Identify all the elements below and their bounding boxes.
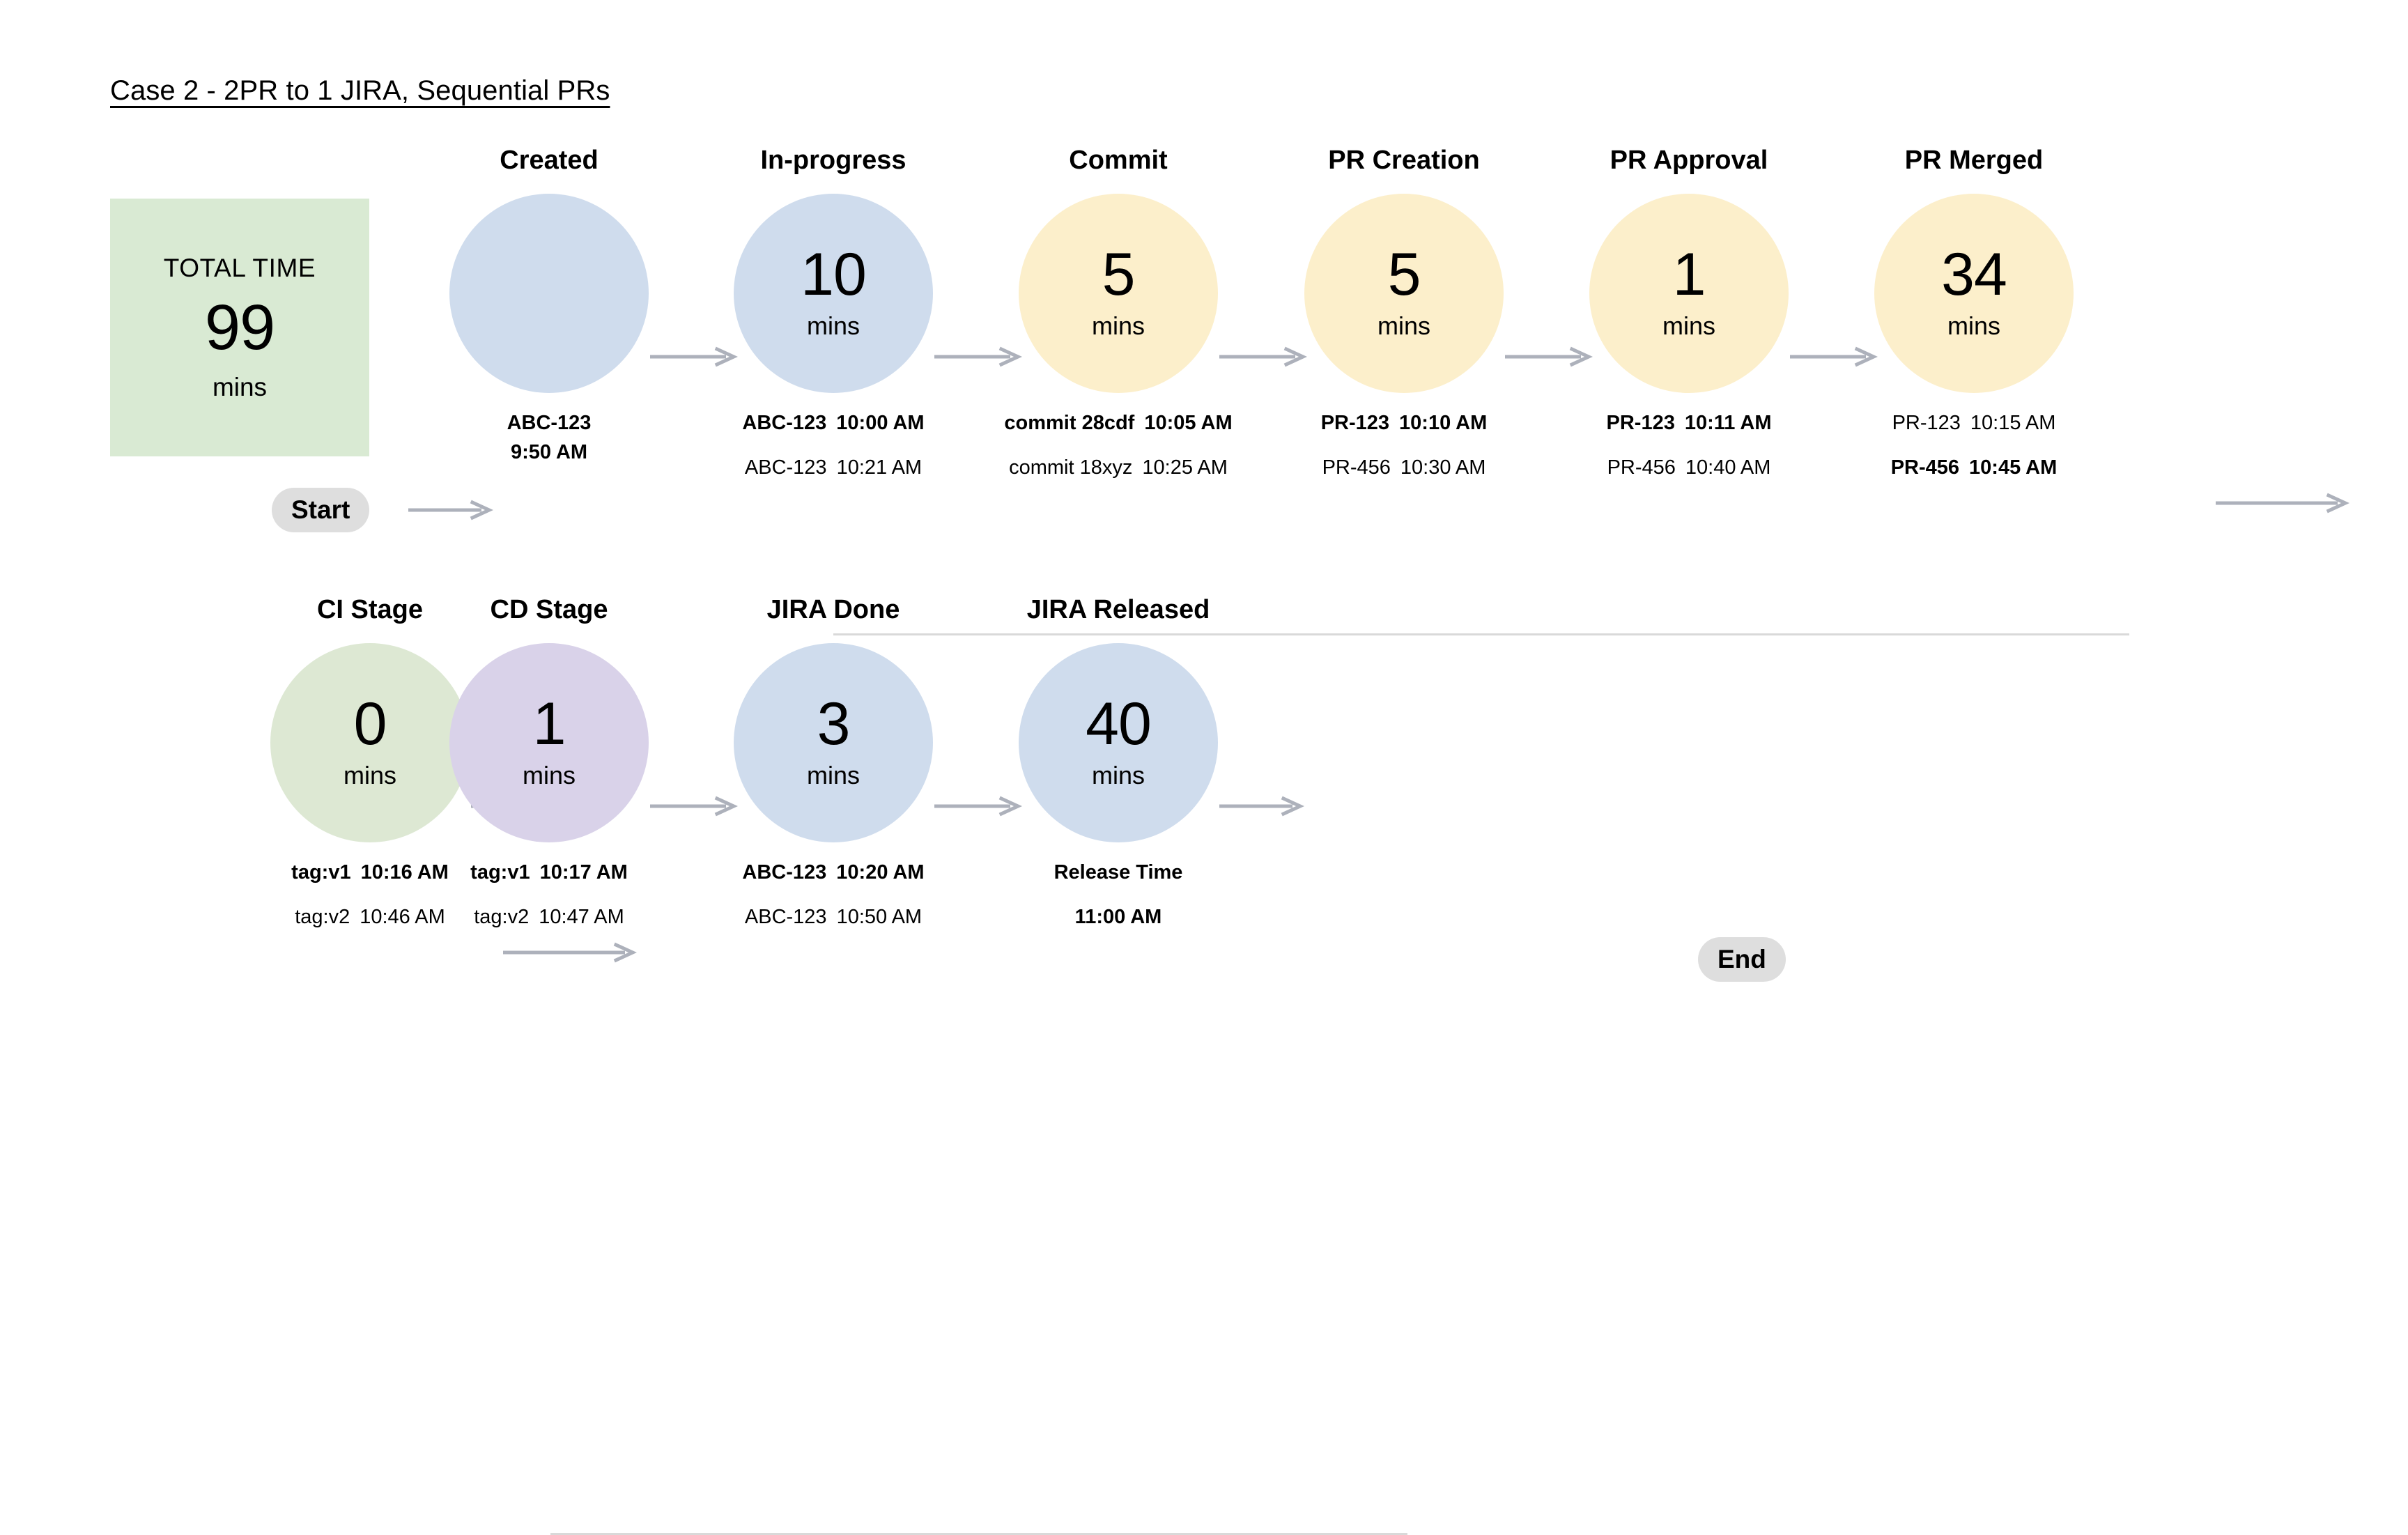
- arrow-node-to-end: [1219, 798, 1302, 815]
- detail-time: 10:25 AM: [1142, 453, 1228, 482]
- detail-row-gap: [734, 887, 933, 902]
- node-detail-line: 11:00 AM: [1019, 902, 1218, 932]
- stage-node-title: JIRA Done: [734, 596, 933, 628]
- stage-node[interactable]: JIRA Done3minsABC-12310:20 AMABC-12310:5…: [734, 596, 933, 932]
- stage-node[interactable]: In-progress10minsABC-12310:00 AMABC-1231…: [734, 146, 933, 482]
- stage-node-details: Release Time11:00 AM: [1019, 858, 1218, 932]
- stage-node[interactable]: CI Stage0minstag:v110:16 AMtag:v210:46 A…: [270, 596, 470, 932]
- node-detail-line: Release Time: [1019, 858, 1218, 887]
- stage-node-details: ABC-1239:50 AM: [449, 408, 649, 467]
- stage-node-circle[interactable]: 5mins: [1019, 194, 1218, 393]
- stage-duration-unit: mins: [1662, 314, 1715, 339]
- arrow-between-nodes: [1219, 348, 1304, 365]
- detail-time: 10:21 AM: [837, 453, 923, 482]
- stage-node-circle[interactable]: 10mins: [734, 194, 933, 393]
- stage-node[interactable]: PR Creation5minsPR-12310:10 AMPR-45610:3…: [1304, 146, 1504, 482]
- detail-ref: ABC-123: [742, 858, 826, 887]
- stage-node-title: CI Stage: [270, 596, 470, 628]
- stage-node-circle[interactable]: 0mins: [270, 643, 470, 842]
- node-detail-line: ABC-12310:20 AM: [734, 858, 933, 887]
- detail-ref: PR-123: [1607, 408, 1675, 438]
- flow-row-2: EndCI Stage0minstag:v110:16 AMtag:v210:4…: [0, 596, 2408, 874]
- detail-time: 10:50 AM: [837, 902, 923, 932]
- stage-node-title: PR Creation: [1304, 146, 1504, 178]
- detail-ref: PR-123: [1321, 408, 1389, 438]
- node-detail-line: ABC-12310:00 AM: [734, 408, 933, 438]
- stage-node-circle[interactable]: 3mins: [734, 643, 933, 842]
- node-detail-line: PR-45610:30 AM: [1304, 453, 1504, 482]
- node-detail-line: ABC-12310:21 AM: [734, 453, 933, 482]
- page-title: Case 2 - 2PR to 1 JIRA, Sequential PRs: [110, 75, 610, 107]
- stage-node-details: ABC-12310:00 AMABC-12310:21 AM: [734, 408, 933, 482]
- stage-node-title: Created: [449, 146, 649, 178]
- stage-duration-value: 5: [1388, 248, 1421, 302]
- end-pill[interactable]: End: [1698, 937, 1786, 982]
- node-detail-line: PR-12310:11 AM: [1589, 408, 1789, 438]
- stage-duration-value: 0: [354, 697, 387, 751]
- arrow-row-trail-out: [2216, 495, 2347, 511]
- detail-ref: tag:v2: [295, 902, 350, 932]
- detail-ref: commit 28cdf: [1004, 408, 1134, 438]
- detail-row-gap: [1019, 887, 1218, 902]
- detail-ref: tag:v1: [291, 858, 350, 887]
- detail-ref: commit 18xyz: [1009, 453, 1132, 482]
- detail-ref: ABC-123: [745, 902, 827, 932]
- arrow-between-nodes: [934, 798, 1019, 815]
- detail-row-gap: [449, 887, 649, 902]
- detail-time: 10:05 AM: [1144, 408, 1232, 438]
- flow-row-1: StartCreatedABC-1239:50 AMIn-progress10m…: [0, 146, 2408, 425]
- start-pill[interactable]: Start: [272, 488, 369, 532]
- detail-time: 10:46 AM: [360, 902, 445, 932]
- arrow-between-nodes: [650, 348, 735, 365]
- node-detail-line: commit 28cdf10:05 AM: [1019, 408, 1218, 438]
- detail-ref: PR-456: [1607, 453, 1676, 482]
- node-detail-line: tag:v110:17 AM: [449, 858, 649, 887]
- node-detail-line: tag:v210:47 AM: [449, 902, 649, 932]
- detail-time: 10:20 AM: [836, 858, 924, 887]
- arrow-start-to-node: [408, 502, 491, 518]
- detail-time: 10:47 AM: [539, 902, 624, 932]
- stage-duration-value: 34: [1941, 248, 2007, 302]
- detail-ref: tag:v2: [474, 902, 529, 932]
- node-detail-line: PR-12310:15 AM: [1874, 408, 2074, 438]
- node-detail-line: ABC-123: [449, 408, 649, 438]
- stage-duration-unit: mins: [523, 763, 576, 788]
- detail-time: 10:10 AM: [1399, 408, 1487, 438]
- stage-node-circle[interactable]: 40mins: [1019, 643, 1218, 842]
- stage-duration-value: 10: [801, 248, 866, 302]
- stage-node-details: PR-12310:15 AMPR-45610:45 AM: [1874, 408, 2074, 482]
- stage-duration-unit: mins: [807, 314, 860, 339]
- node-detail-line: commit 18xyz10:25 AM: [1019, 453, 1218, 482]
- stage-duration-value: 40: [1086, 697, 1151, 751]
- detail-ref: PR-123: [1892, 408, 1961, 438]
- detail-row-gap: [1874, 438, 2074, 453]
- stage-node-details: ABC-12310:20 AMABC-12310:50 AM: [734, 858, 933, 932]
- arrow-between-nodes: [1790, 348, 1875, 365]
- detail-ref: Release Time: [1054, 858, 1183, 887]
- stage-node-circle[interactable]: 1mins: [449, 643, 649, 842]
- detail-ref: 11:00 AM: [1075, 902, 1162, 932]
- stage-node-title: In-progress: [734, 146, 933, 178]
- stage-node-details: PR-12310:10 AMPR-45610:30 AM: [1304, 408, 1504, 482]
- stage-node-title: Commit: [1019, 146, 1218, 178]
- stage-duration-value: 3: [817, 697, 850, 751]
- arrow-between-nodes: [1505, 348, 1590, 365]
- detail-time: 10:40 AM: [1685, 453, 1771, 482]
- stage-node[interactable]: PR Approval1minsPR-12310:11 AMPR-45610:4…: [1589, 146, 1789, 482]
- stage-duration-unit: mins: [807, 763, 860, 788]
- stage-node-title: PR Approval: [1589, 146, 1789, 178]
- node-detail-line: tag:v110:16 AM: [270, 858, 470, 887]
- stage-node[interactable]: CreatedABC-1239:50 AM: [449, 146, 649, 467]
- detail-row-gap: [734, 438, 933, 453]
- stage-node[interactable]: PR Merged34minsPR-12310:15 AMPR-45610:45…: [1874, 146, 2074, 482]
- detail-time: 10:16 AM: [361, 858, 449, 887]
- detail-row-gap: [1589, 438, 1789, 453]
- node-detail-line: PR-12310:10 AM: [1304, 408, 1504, 438]
- detail-time: 10:15 AM: [1970, 408, 2056, 438]
- stage-node[interactable]: Commit5minscommit 28cdf10:05 AMcommit 18…: [1019, 146, 1218, 482]
- stage-node-details: tag:v110:17 AMtag:v210:47 AM: [449, 858, 649, 932]
- stage-duration-value: 1: [533, 697, 566, 751]
- stage-node-details: tag:v110:16 AMtag:v210:46 AM: [270, 858, 470, 932]
- arrow-between-nodes: [934, 348, 1019, 365]
- detail-row-gap: [270, 887, 470, 902]
- detail-time: 10:45 AM: [1969, 453, 2057, 482]
- detail-time: 10:00 AM: [836, 408, 924, 438]
- stage-duration-unit: mins: [344, 763, 396, 788]
- stage-duration-value: 1: [1673, 248, 1706, 302]
- node-detail-line: PR-45610:40 AM: [1589, 453, 1789, 482]
- detail-row-gap: [1304, 438, 1504, 453]
- node-detail-line: tag:v210:46 AM: [270, 902, 470, 932]
- detail-time: 10:30 AM: [1400, 453, 1486, 482]
- stage-duration-unit: mins: [1947, 314, 2000, 339]
- detail-ref: PR-456: [1891, 453, 1959, 482]
- stage-duration-unit: mins: [1092, 763, 1145, 788]
- stage-node[interactable]: JIRA Released40minsRelease Time11:00 AM: [1019, 596, 1218, 932]
- node-detail-line: 9:50 AM: [449, 438, 649, 467]
- stage-node-circle[interactable]: [449, 194, 649, 393]
- stage-node-circle[interactable]: 34mins: [1874, 194, 2074, 393]
- detail-ref: ABC-123: [745, 453, 827, 482]
- stage-node-details: PR-12310:11 AMPR-45610:40 AM: [1589, 408, 1789, 482]
- node-detail-line: ABC-12310:50 AM: [734, 902, 933, 932]
- stage-node-details: commit 28cdf10:05 AMcommit 18xyz10:25 AM: [1019, 408, 1218, 482]
- stage-duration-value: 5: [1102, 248, 1135, 302]
- stage-node-circle[interactable]: 5mins: [1304, 194, 1504, 393]
- stage-node-title: JIRA Released: [1019, 596, 1218, 628]
- detail-time: 10:17 AM: [540, 858, 628, 887]
- stage-duration-unit: mins: [1092, 314, 1145, 339]
- arrow-row-lead-in: [503, 944, 634, 961]
- stage-node-circle[interactable]: 1mins: [1589, 194, 1789, 393]
- stage-node[interactable]: CD Stage1minstag:v110:17 AMtag:v210:47 A…: [449, 596, 649, 932]
- detail-time: 10:11 AM: [1685, 408, 1772, 438]
- detail-ref: PR-456: [1322, 453, 1391, 482]
- detail-ref: ABC-123: [742, 408, 826, 438]
- node-detail-line: PR-45610:45 AM: [1874, 453, 2074, 482]
- detail-ref: tag:v1: [470, 858, 530, 887]
- detail-row-gap: [1019, 438, 1218, 453]
- stage-node-title: CD Stage: [449, 596, 649, 628]
- arrow-between-nodes: [650, 798, 735, 815]
- stage-duration-unit: mins: [1377, 314, 1430, 339]
- stage-node-title: PR Merged: [1874, 146, 2074, 178]
